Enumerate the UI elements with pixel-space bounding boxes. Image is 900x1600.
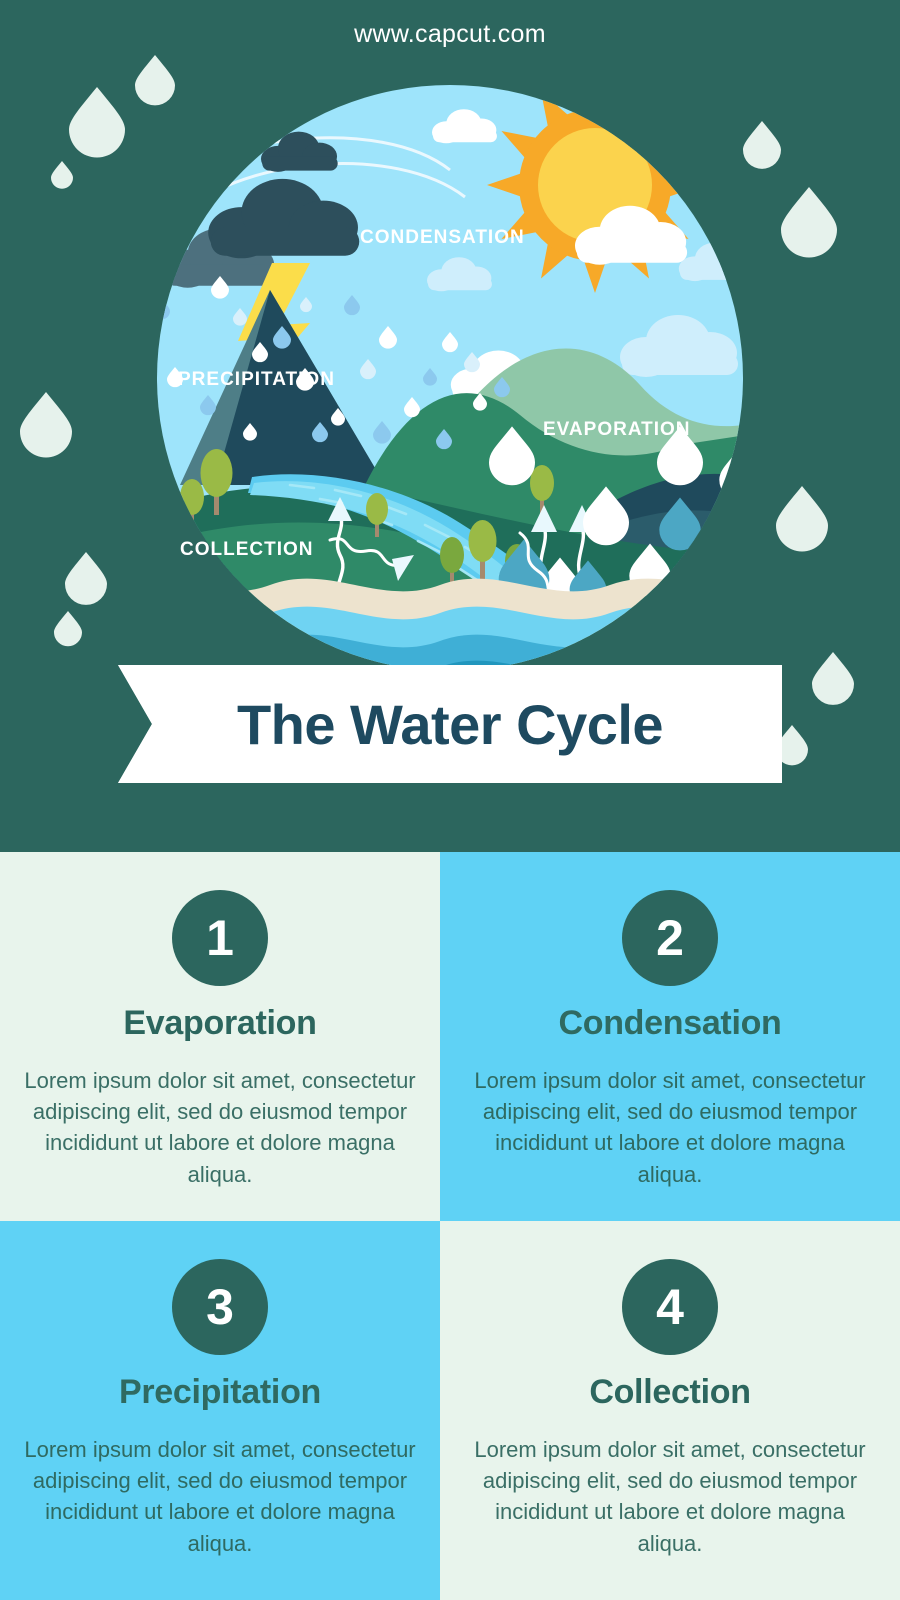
- water-cycle-illustration: CONDENSATION PRECIPITATION EVAPORATION C…: [120, 85, 780, 675]
- step-body: Lorem ipsum dolor sit amet, consectetur …: [470, 1065, 870, 1190]
- step-body: Lorem ipsum dolor sit amet, consectetur …: [24, 1065, 416, 1190]
- step-title: Condensation: [464, 1004, 876, 1043]
- step-number-badge: 1: [172, 890, 268, 986]
- step-number-badge: 2: [622, 890, 718, 986]
- steps-grid: 1 Evaporation Lorem ipsum dolor sit amet…: [0, 852, 900, 1600]
- ocean-waves-icon: [120, 579, 780, 675]
- water-cycle-svg: CONDENSATION PRECIPITATION EVAPORATION C…: [120, 85, 780, 675]
- page-title: The Water Cycle: [118, 665, 782, 783]
- step-card-precipitation[interactable]: 3 Precipitation Lorem ipsum dolor sit am…: [0, 1221, 440, 1600]
- step-body: Lorem ipsum dolor sit amet, consectetur …: [24, 1434, 416, 1559]
- header-section: www.capcut.com: [0, 0, 900, 852]
- step-body: Lorem ipsum dolor sit amet, consectetur …: [470, 1434, 870, 1559]
- label-evaporation: EVAPORATION: [543, 419, 691, 440]
- step-card-evaporation[interactable]: 1 Evaporation Lorem ipsum dolor sit amet…: [0, 852, 440, 1221]
- label-collection: COLLECTION: [180, 539, 314, 560]
- step-title: Evaporation: [24, 1004, 416, 1043]
- label-precipitation: PRECIPITATION: [178, 369, 335, 390]
- step-number-badge: 4: [622, 1259, 718, 1355]
- step-title: Collection: [464, 1373, 876, 1412]
- title-ribbon: The Water Cycle: [118, 665, 782, 783]
- condensation-arrowheads: [142, 185, 190, 240]
- step-card-condensation[interactable]: 2 Condensation Lorem ipsum dolor sit ame…: [440, 852, 900, 1221]
- step-number-badge: 3: [172, 1259, 268, 1355]
- label-condensation: CONDENSATION: [360, 227, 525, 248]
- step-title: Precipitation: [24, 1373, 416, 1412]
- step-card-collection[interactable]: 4 Collection Lorem ipsum dolor sit amet,…: [440, 1221, 900, 1600]
- infographic-page: www.capcut.com: [0, 0, 900, 1600]
